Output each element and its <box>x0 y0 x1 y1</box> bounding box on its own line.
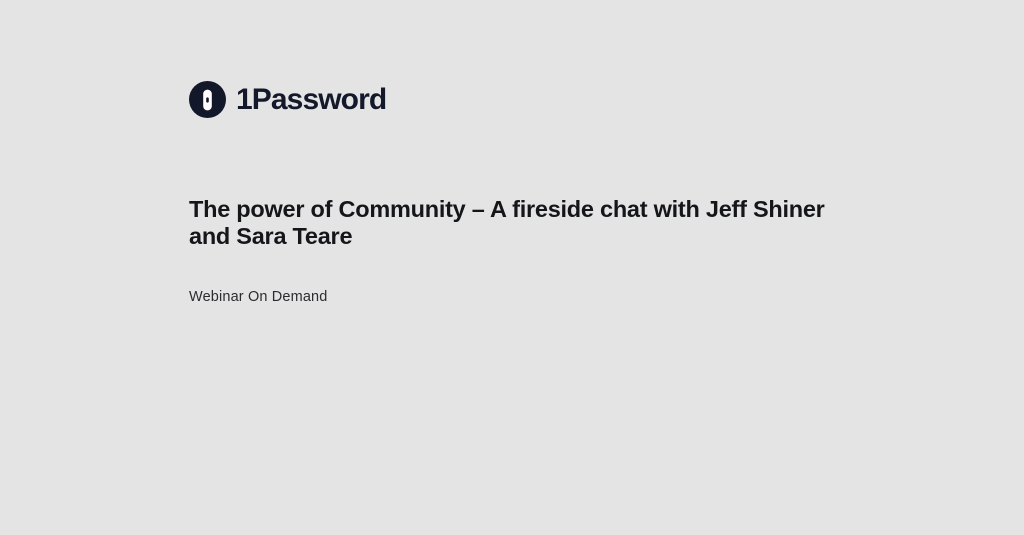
webinar-title-card: 1Password The power of Community – A fir… <box>0 0 1024 535</box>
keyhole-icon <box>189 81 226 118</box>
page-title: The power of Community – A fireside chat… <box>189 196 829 250</box>
brand-lockup[interactable]: 1Password <box>189 81 386 118</box>
brand-wordmark: 1Password <box>236 85 386 115</box>
page-subtitle: Webinar On Demand <box>189 288 328 307</box>
